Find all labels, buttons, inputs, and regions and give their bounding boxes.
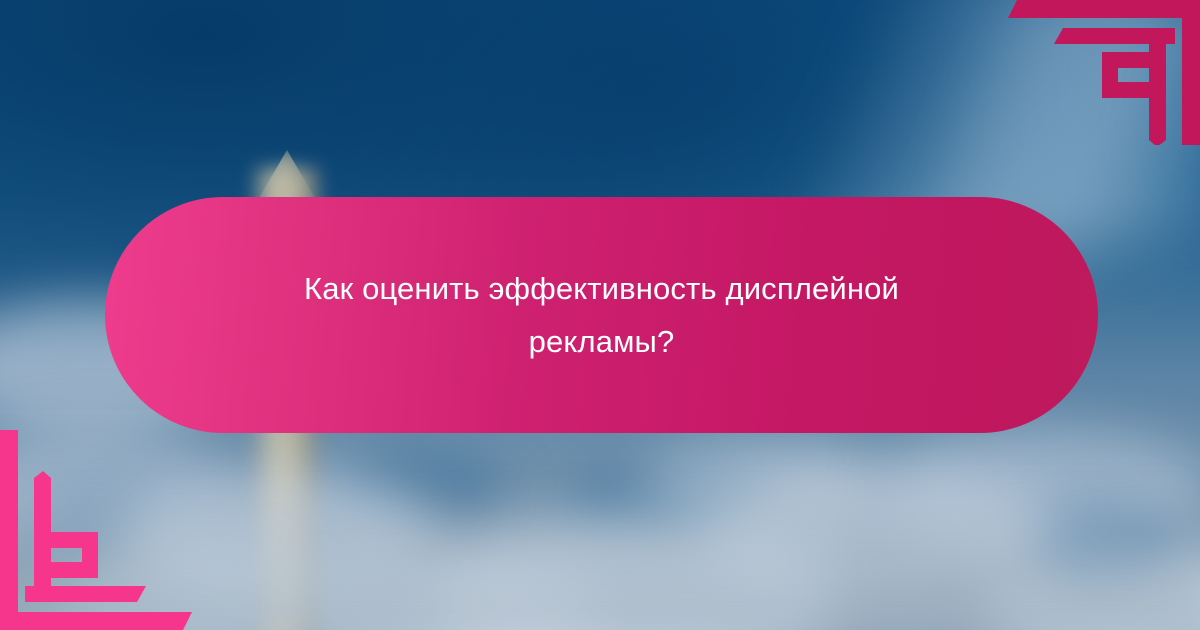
- horizon-haze: [0, 480, 1200, 630]
- cirrus-cloud-streak-secondary: [840, 13, 1200, 227]
- page-title: Как оценить эффективность дисплейной рек…: [252, 262, 952, 369]
- promo-card: Как оценить эффективность дисплейной рек…: [0, 0, 1200, 630]
- headline-pill: Как оценить эффективность дисплейной рек…: [105, 197, 1098, 433]
